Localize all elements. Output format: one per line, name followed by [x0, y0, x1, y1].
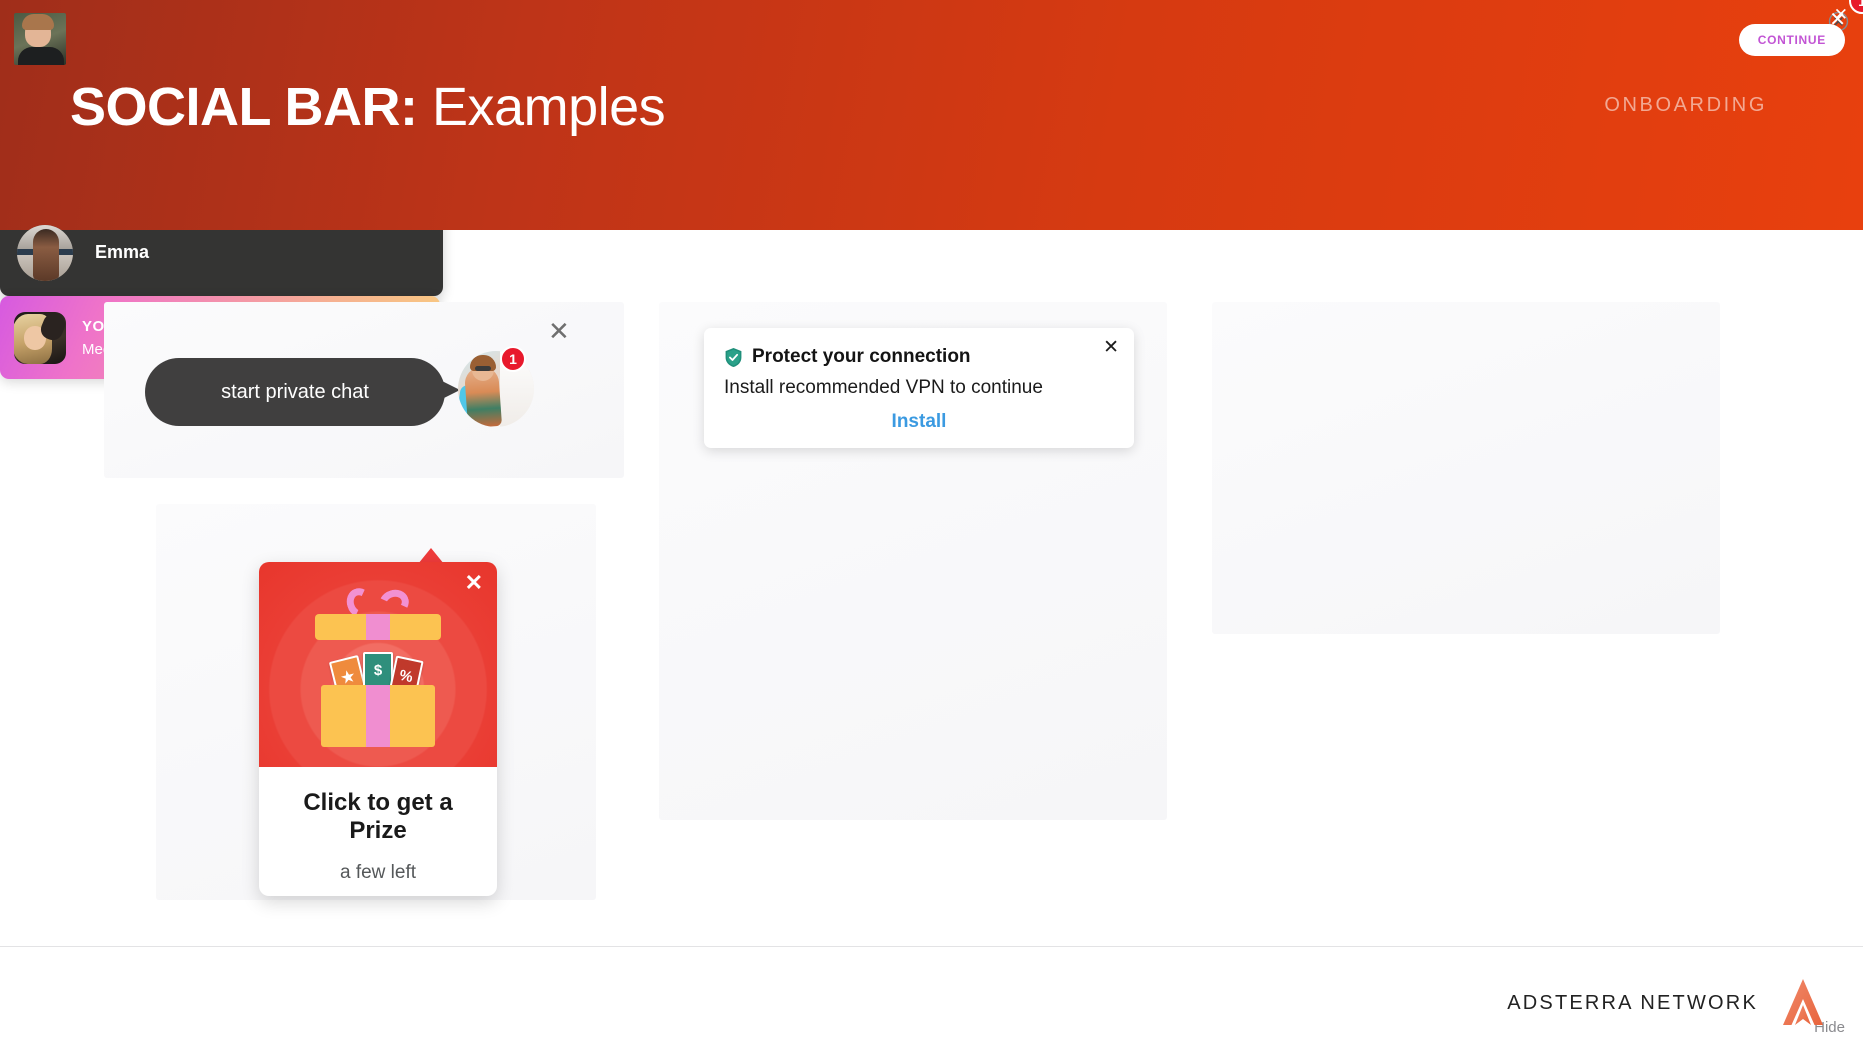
adsterra-a-logo: [1775, 975, 1831, 1031]
page-title-bold: SOCIAL BAR:: [70, 77, 418, 137]
page-title: SOCIAL BAR: Examples: [70, 76, 665, 138]
prize-card-title-line2: Prize: [349, 817, 406, 844]
vpn-card-body: Install recommended VPN to continue: [704, 368, 1134, 399]
close-icon[interactable]: ✕: [1103, 338, 1119, 357]
thumbnail-hair: [22, 14, 54, 30]
vpn-notification-card[interactable]: Protect your connection Install recommen…: [704, 328, 1134, 448]
close-icon[interactable]: ✕: [548, 318, 570, 344]
gift-lid-ribbon: [366, 614, 390, 640]
prize-card-title-line1: Click to get a: [303, 789, 452, 816]
photo-thumbnail: [14, 312, 66, 364]
footer-divider: [0, 946, 1863, 947]
gift-box-icon: ★ $ % ✕: [259, 562, 497, 767]
vpn-card-header: Protect your connection: [704, 328, 1134, 368]
page-title-light: Examples: [432, 77, 665, 137]
photo-thumbnail: [14, 13, 66, 65]
thumbnail-shoulder: [18, 47, 64, 65]
emma-card-name: Emma: [95, 242, 149, 263]
install-button[interactable]: Install: [704, 411, 1134, 433]
avatar-person: [33, 229, 59, 281]
chat-bubble-tail: [438, 379, 460, 401]
prize-card-body: Click to get a Prize a few left: [259, 767, 497, 884]
panel-right-examples: [1212, 302, 1720, 634]
prize-card-title: Click to get a Prize: [269, 789, 487, 845]
slide-root: SOCIAL BAR: Examples ONBOARDING start pr…: [0, 0, 1863, 1048]
slide-header: SOCIAL BAR: Examples ONBOARDING: [0, 0, 1863, 230]
avatar-sunglasses: [475, 366, 491, 371]
chat-bubble-label: start private chat: [221, 381, 369, 404]
shield-check-icon: [724, 347, 743, 368]
chat-bubble[interactable]: start private chat: [145, 358, 445, 426]
coupon-glyph: $: [365, 662, 391, 679]
prize-card[interactable]: ★ $ % ✕ Click to get a Prize a few left: [259, 562, 497, 896]
avatar: [17, 225, 73, 281]
close-icon[interactable]: ✕: [465, 572, 483, 594]
footer-brand: ADSTERRA NETWORK: [1507, 992, 1758, 1015]
vpn-card-title: Protect your connection: [752, 346, 971, 368]
gift-box-ribbon: [366, 685, 390, 747]
prize-card-subtitle: a few left: [269, 862, 487, 884]
chat-bubble-example: start private chat 1 ✕: [140, 318, 600, 458]
status-badge: 1: [500, 346, 526, 372]
header-kicker: ONBOARDING: [1604, 94, 1767, 117]
